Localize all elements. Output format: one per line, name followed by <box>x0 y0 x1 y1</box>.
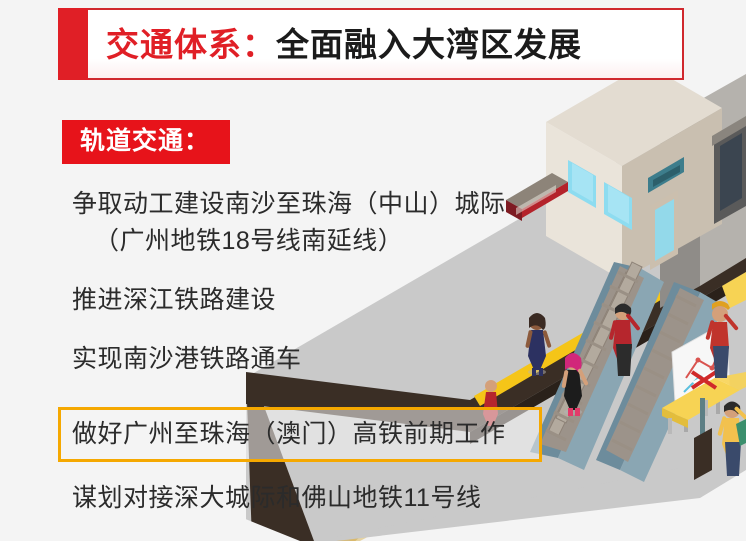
railway-crossing-sign-icon <box>692 370 722 480</box>
spacer <box>58 319 558 341</box>
slide-canvas: 交通体系：全面融入大湾区发展 轨道交通： 争取动工建设南沙至珠海（中山）城际 （… <box>0 0 746 541</box>
route-map-board <box>672 322 730 432</box>
spacer <box>58 260 558 282</box>
section-badge: 轨道交通： <box>62 120 230 164</box>
bench-icon-2 <box>722 272 746 308</box>
list-item: 实现南沙港铁路通车 <box>58 341 558 378</box>
highlighted-list-item: 做好广州至珠海（澳门）高铁前期工作 <box>72 418 506 451</box>
list-item-subline: （广州地铁18号线南延线） <box>72 223 558 260</box>
title-banner: 交通体系：全面融入大湾区发展 <box>58 8 684 80</box>
list-item-line: 推进深江铁路建设 <box>72 286 276 314</box>
bench-icon <box>662 372 746 434</box>
list-item-last: 谋划对接深大城际和佛山地铁11号线 <box>72 482 481 515</box>
person-icon-man-yellow <box>717 402 746 477</box>
page-title-highlight: 交通体系： <box>106 26 276 63</box>
person-icon-man-cap <box>705 301 739 378</box>
list-item-line: 争取动工建设南沙至珠海（中山）城际 <box>72 190 506 218</box>
page-title: 交通体系：全面融入大湾区发展 <box>106 28 582 61</box>
title-accent-bar <box>58 8 88 80</box>
list-item: 推进深江铁路建设 <box>58 282 558 319</box>
bullet-list: 争取动工建设南沙至珠海（中山）城际 （广州地铁18号线南延线） 推进深江铁路建设… <box>58 186 558 378</box>
list-item: 争取动工建设南沙至珠海（中山）城际 （广州地铁18号线南延线） <box>58 186 558 260</box>
person-icon-woman-pink-hair <box>561 353 588 416</box>
escalator-icon <box>530 262 724 482</box>
list-item-line: 实现南沙港铁路通车 <box>72 345 302 373</box>
page-title-rest: 全面融入大湾区发展 <box>276 26 582 63</box>
person-icon-man-red-jacket <box>609 304 641 377</box>
